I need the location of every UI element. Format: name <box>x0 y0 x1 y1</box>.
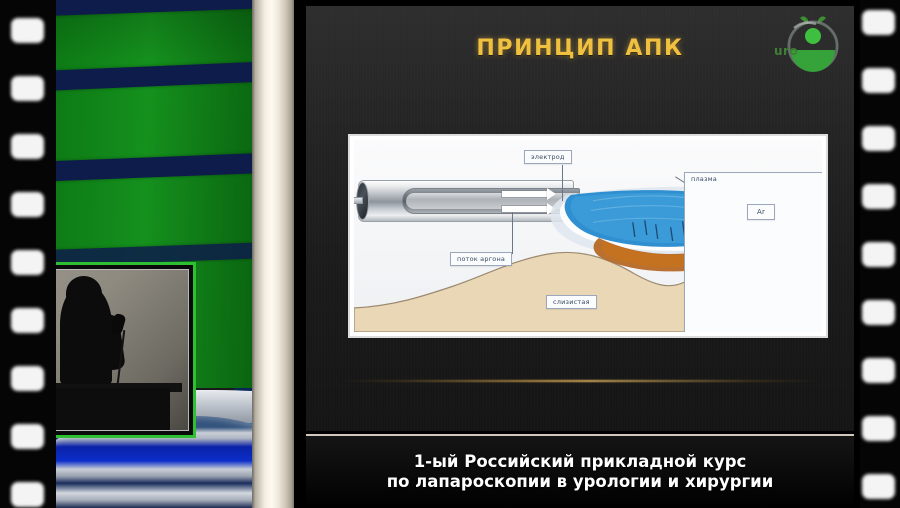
label-argon-symbol: Ar <box>747 204 775 220</box>
label-electrode: электрод <box>524 150 572 164</box>
film-strip-left <box>0 0 56 508</box>
caption-line-2: по лапароскопии в урологии и хирургии <box>387 472 774 492</box>
film-strip-right <box>860 0 900 508</box>
film-sprocket-hole <box>11 424 44 449</box>
uro-logo-text: uro <box>774 44 798 58</box>
film-sprocket-hole <box>11 192 44 217</box>
film-sprocket-hole <box>862 416 895 441</box>
label-mucosa: слизистая <box>546 295 597 309</box>
video-frame: Z ENDOSCOPE ПРИНЦИП АПК <box>0 0 900 508</box>
caption-bar: 1-ый Российский прикладной курс по лапар… <box>306 434 854 508</box>
panel-divider-column <box>252 0 294 508</box>
caption-line-1: 1-ый Российский прикладной курс <box>387 452 774 472</box>
presentation-slide-panel: ПРИНЦИП АПК uro <box>296 0 860 508</box>
film-sprocket-hole <box>862 300 895 325</box>
film-sprocket-hole <box>862 474 895 499</box>
diagram-frame: электрод поток аргона плазма Ar слизиста… <box>348 134 828 338</box>
film-sprocket-hole <box>11 250 44 275</box>
film-sprocket-hole <box>11 18 44 43</box>
film-sprocket-hole <box>11 308 44 333</box>
caption-text: 1-ый Российский прикладной курс по лапар… <box>387 452 774 492</box>
film-sprocket-hole <box>11 76 44 101</box>
uro-logo: uro <box>774 14 844 76</box>
label-argon-flow: поток аргона <box>450 252 512 266</box>
film-sprocket-hole <box>862 242 895 267</box>
film-sprocket-hole <box>11 482 44 507</box>
film-sprocket-hole <box>11 366 44 391</box>
film-sprocket-hole <box>862 184 895 209</box>
speaker-head <box>66 276 102 312</box>
label-plasma: плазма <box>684 172 822 332</box>
film-sprocket-hole <box>862 68 895 93</box>
film-sprocket-hole <box>862 10 895 35</box>
film-sprocket-hole <box>862 358 895 383</box>
film-sprocket-hole <box>862 126 895 151</box>
slide-board: ПРИНЦИП АПК uro <box>306 6 854 431</box>
film-sprocket-hole <box>11 134 44 159</box>
apc-principle-diagram: электрод поток аргона плазма Ar слизиста… <box>354 140 822 332</box>
leader-line <box>562 165 563 201</box>
leader-line <box>512 212 513 254</box>
slide-accent-line <box>339 380 821 382</box>
slide-title: ПРИНЦИП АПК <box>306 36 854 61</box>
